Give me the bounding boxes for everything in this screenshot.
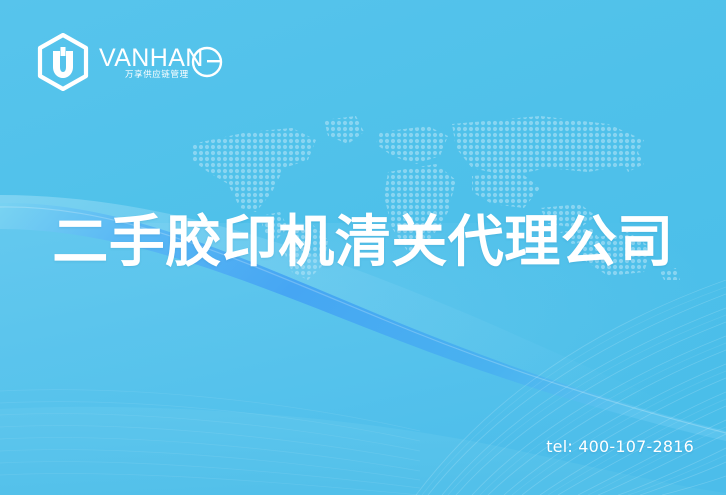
page-title: 二手胶印机清关代理公司 [0,207,726,279]
logo-wordmark: VANHAN 万享供应链管理 [99,40,227,84]
contact-phone[interactable]: tel: 400-107-2816 [546,437,694,457]
promo-banner: VANHAN 万享供应链管理 二手胶印机清关代理公司 tel: 400-107-… [0,0,726,495]
brand-logo[interactable]: VANHAN 万享供应链管理 [36,33,227,91]
wordmark-text: VANHAN [99,44,204,72]
hexagon-anchor-mark-icon [36,33,90,91]
wordmark-subtitle: 万享供应链管理 [125,69,189,80]
